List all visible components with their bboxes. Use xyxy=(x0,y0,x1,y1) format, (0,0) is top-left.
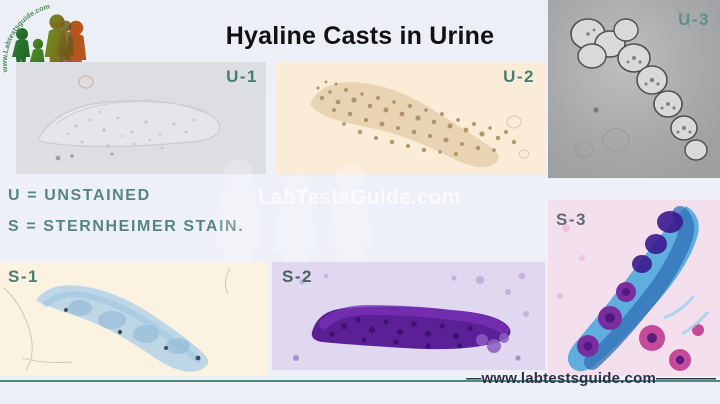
panel-label-s1: S-1 xyxy=(8,267,39,287)
page-title: Hyaline Casts in Urine xyxy=(150,22,570,51)
panel-label-s2: S-2 xyxy=(282,267,313,287)
stain-legend: U = UNSTAINED S = STERNHEIMER STAIN. xyxy=(8,180,244,242)
panel-label-u3: U-3 xyxy=(678,10,710,30)
panel-u1[interactable]: U-1 xyxy=(16,62,266,174)
infographic-root: www.Labtestsguide.com H xyxy=(0,0,720,404)
legend-line-unstained: U = UNSTAINED xyxy=(8,180,244,211)
footer-trailing-dashes: ———— xyxy=(656,370,716,387)
panel-u3[interactable]: U-3 xyxy=(548,0,720,178)
panel-label-u1: U-1 xyxy=(226,67,258,87)
panel-u2[interactable]: U-2 xyxy=(276,62,545,174)
panel-label-s3: S-3 xyxy=(556,210,587,230)
panel-s2[interactable]: S-2 xyxy=(272,262,545,370)
micrograph-s1 xyxy=(0,262,268,376)
panel-label-u2: U-2 xyxy=(503,67,535,87)
footer-leading-dash: — xyxy=(466,370,481,387)
legend-line-sternheimer: S = STERNHEIMER STAIN. xyxy=(8,211,244,242)
panel-s3[interactable]: S-3 xyxy=(548,200,720,376)
panel-s1[interactable]: S-1 xyxy=(0,262,268,376)
footer-website-url[interactable]: —www.labtestsguide.com———— xyxy=(466,370,716,387)
watermark-text: LabTestsGuide.com xyxy=(258,186,461,210)
footer-url-text: www.labtestsguide.com xyxy=(481,370,656,387)
